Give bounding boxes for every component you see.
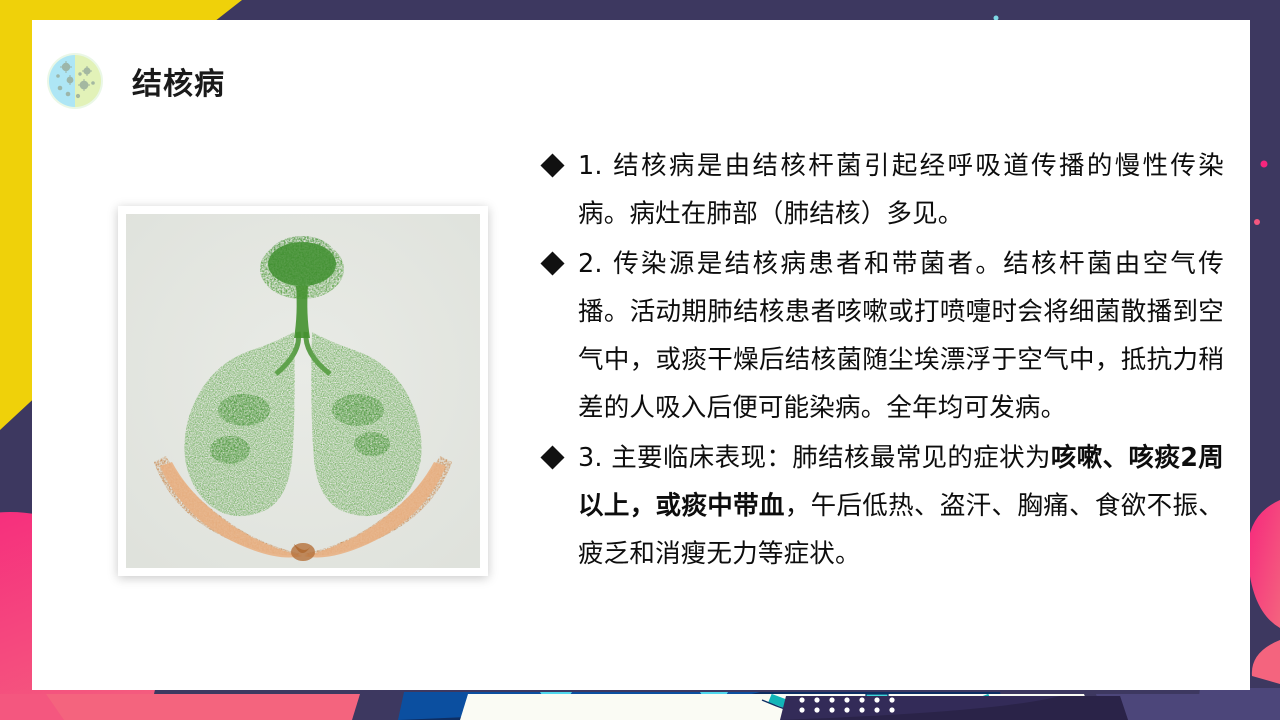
- page-title: 结核病: [132, 59, 225, 103]
- pink-speck-1: [1261, 161, 1268, 168]
- bottom-pink-band: [46, 694, 360, 720]
- slide-card: 结核病: [32, 20, 1250, 690]
- lungs-photo-frame: [118, 206, 488, 576]
- presentation-slide: 结核病: [0, 0, 1280, 720]
- bullet-2-text: 2. 传染源是结核病患者和带菌者。结核杆菌由空气传播。活动期肺结核患者咳嗽或打喷…: [578, 240, 1224, 432]
- bullet-list: 1. 结核病是由结核杆菌引起经呼吸道传播的慢性传染病。病灶在肺部（肺结核）多见。…: [544, 142, 1224, 580]
- bullet-1-text: 1. 结核病是由结核杆菌引起经呼吸道传播的慢性传染病。病灶在肺部（肺结核）多见。: [578, 142, 1224, 238]
- bullet-3-text: 3. 主要临床表现：肺结核最常见的症状为咳嗽、咳痰2周以上，或痰中带血，午后低热…: [578, 434, 1224, 578]
- list-item: 2. 传染源是结核病患者和带菌者。结核杆菌由空气传播。活动期肺结核患者咳嗽或打喷…: [544, 240, 1224, 432]
- pink-speck-2: [1254, 219, 1260, 225]
- list-item: 3. 主要临床表现：肺结核最常见的症状为咳嗽、咳痰2周以上，或痰中带血，午后低热…: [544, 434, 1224, 578]
- germ-circle-icon: [44, 50, 106, 112]
- slide-header: 结核病: [44, 50, 225, 112]
- diamond-bullet-icon: [540, 251, 564, 275]
- diamond-bullet-icon: [540, 445, 564, 469]
- bottom-right-purple: [1196, 688, 1280, 720]
- lungs-particles-hands-image: [126, 214, 480, 568]
- list-item: 1. 结核病是由结核杆菌引起经呼吸道传播的慢性传染病。病灶在肺部（肺结核）多见。: [544, 142, 1224, 238]
- diamond-bullet-icon: [540, 153, 564, 177]
